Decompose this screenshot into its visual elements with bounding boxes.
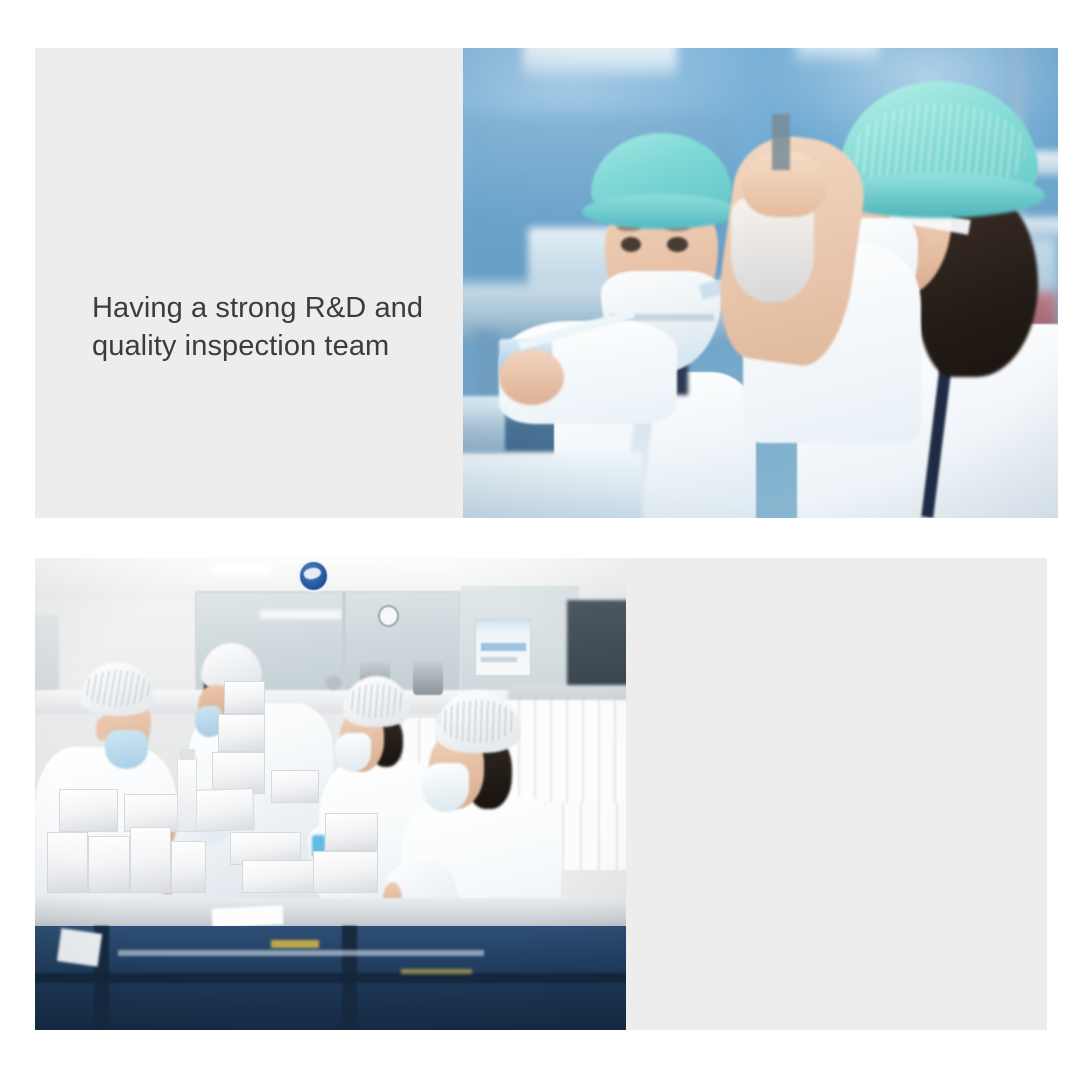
caption-panel-top: Having a strong R&D and quality inspecti… <box>35 48 463 518</box>
section-warehouse: a warehouse distribution area a warehous… <box>0 540 1080 1080</box>
caption-panel-bottom: a warehouse distribution area a warehous… <box>600 558 1047 1030</box>
lab-photo-vignette <box>463 48 1058 518</box>
section-lab-rnd: Having a strong R&D and quality inspecti… <box>0 0 1080 540</box>
warehouse-packing-photo <box>35 558 626 1030</box>
caption-text-rnd: Having a strong R&D and quality inspecti… <box>92 289 492 365</box>
lab-quality-inspection-photo <box>463 48 1058 518</box>
warehouse-photo-vignette <box>35 558 626 1030</box>
